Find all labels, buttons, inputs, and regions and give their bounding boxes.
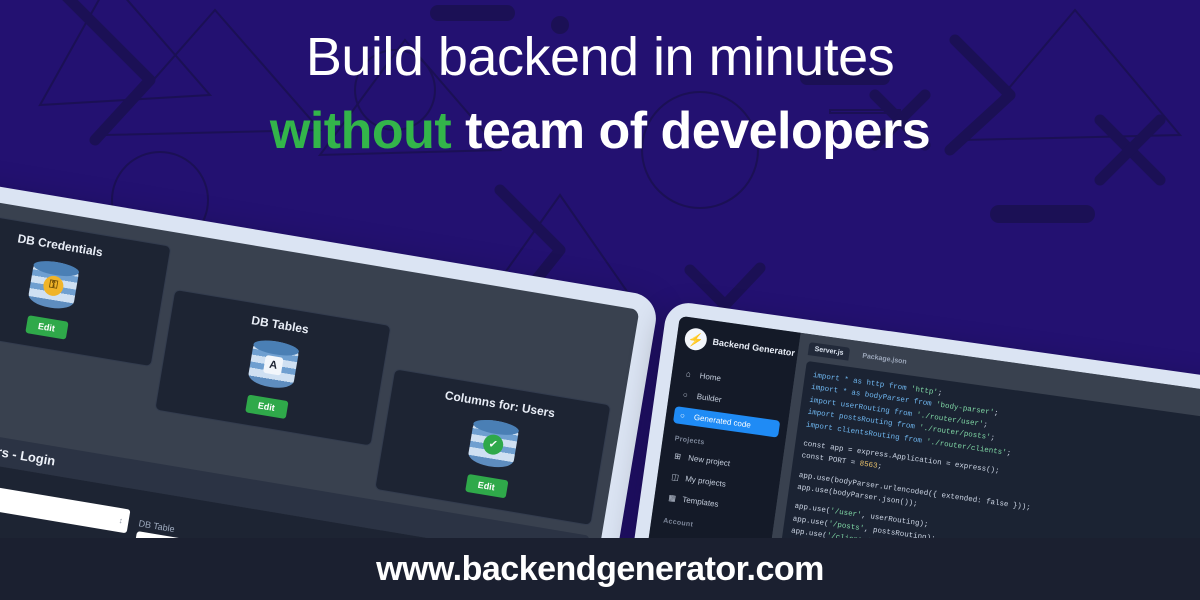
circle-icon: ○ (679, 411, 689, 421)
tab-package-json[interactable]: Package.json (855, 349, 913, 370)
edit-button[interactable]: Edit (465, 474, 508, 499)
tablet-left-device: DB Credentials ⚿ Edit DB Tables A Edit (0, 175, 660, 600)
plus-box-icon: ⊞ (674, 451, 684, 461)
db-card-credentials[interactable]: DB Credentials ⚿ Edit (0, 210, 172, 368)
database-table-icon: A (247, 338, 300, 391)
sidebar-item-label: Home (699, 371, 721, 383)
headline-highlight: without (270, 102, 451, 160)
promo-banner: Build backend in minutes without team of… (0, 0, 1200, 600)
website-url-bar: www.backendgenerator.com (0, 538, 1200, 600)
sidebar-item-label: My projects (685, 474, 727, 489)
edit-button[interactable]: Edit (245, 394, 288, 419)
grid-icon: ▦ (668, 493, 678, 503)
tab-server-js[interactable]: Server.js (808, 342, 851, 361)
home-icon: ⌂ (685, 369, 695, 379)
lightning-bolt-gear-icon: ⚡ (683, 327, 708, 352)
headline-line-2: without team of developers (0, 99, 1200, 164)
letter-badge: A (263, 355, 284, 376)
chevron-updown-icon: ↕ (118, 515, 123, 525)
folder-icon: ◫ (671, 472, 681, 482)
sidebar-item-label: Templates (682, 495, 719, 509)
edit-button[interactable]: Edit (25, 315, 68, 340)
headline-line-2-rest: team of developers (451, 102, 930, 160)
sidebar-section-account: Account (663, 518, 765, 539)
db-card-title: DB Credentials (0, 222, 161, 269)
sidebar-item-label: Builder (696, 392, 722, 404)
headline-line-1: Build backend in minutes (0, 28, 1200, 87)
database-columns-icon: ✓ (467, 417, 520, 470)
headline: Build backend in minutes without team of… (0, 28, 1200, 164)
db-card-tables[interactable]: DB Tables A Edit (154, 289, 391, 447)
sidebar-item-label: Generated code (693, 413, 751, 430)
brand: ⚡ Backend Generator (683, 327, 791, 364)
database-lock-icon: ⚿ (27, 258, 80, 311)
sidebar-item-label: New project (688, 453, 731, 468)
brand-name: Backend Generator (712, 337, 796, 358)
circle-icon: ○ (682, 390, 692, 400)
db-card-columns[interactable]: Columns for: Users ✓ Edit (374, 368, 611, 526)
website-url[interactable]: www.backendgenerator.com (376, 550, 824, 589)
